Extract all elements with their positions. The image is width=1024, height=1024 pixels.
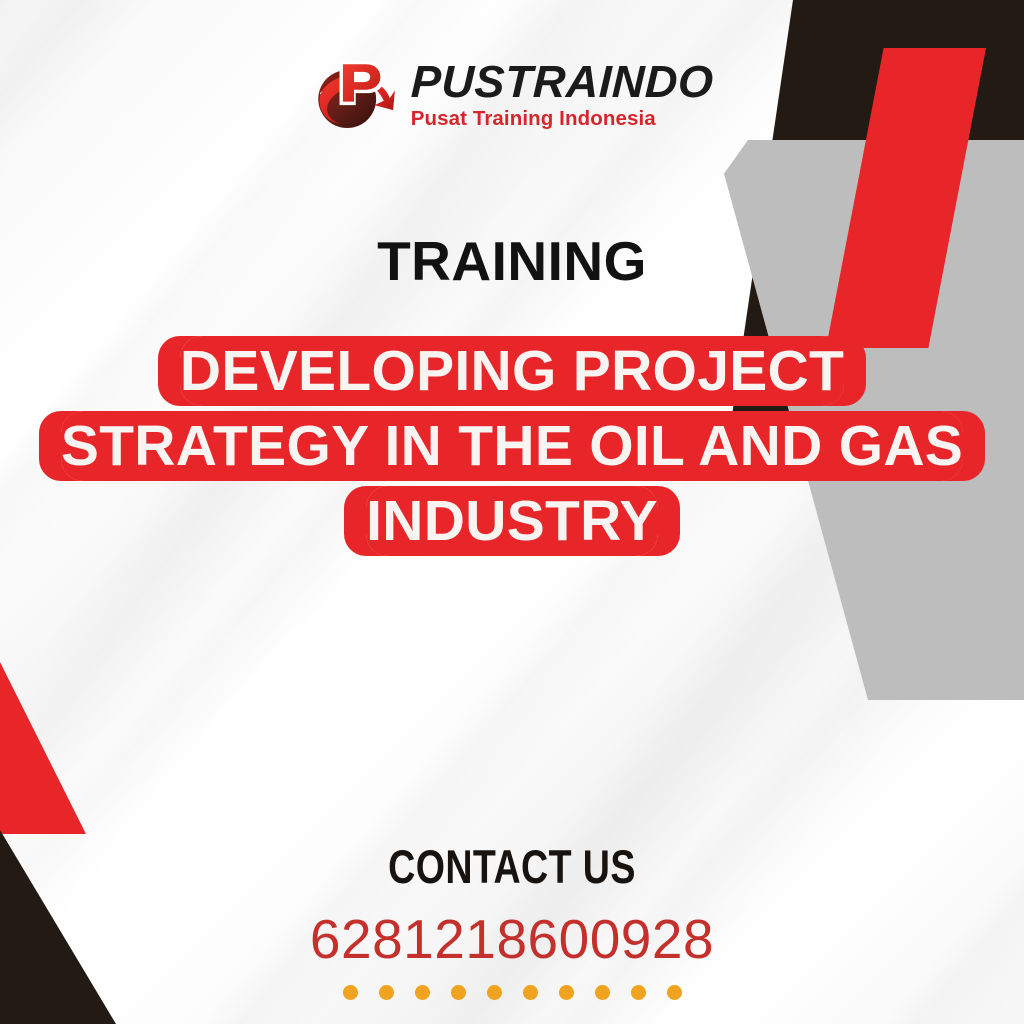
decorative-dot bbox=[379, 985, 394, 1000]
decorative-dot bbox=[343, 985, 358, 1000]
eyebrow-training: TRAINING bbox=[377, 229, 647, 293]
headline-line-3: INDUSTRY bbox=[366, 486, 658, 556]
contact-us-label: CONTACT US bbox=[102, 839, 921, 894]
brand-wordmark: PUSTRAINDO Pusat Training Indonesia bbox=[411, 59, 714, 130]
headline-line-1: DEVELOPING PROJECT bbox=[180, 336, 844, 406]
decorative-dot bbox=[595, 985, 610, 1000]
headline-block: DEVELOPING PROJECT STRATEGY IN THE OIL A… bbox=[52, 337, 972, 556]
brand-logo: PUSTRAINDO Pusat Training Indonesia bbox=[311, 52, 714, 136]
decorative-dot bbox=[487, 985, 502, 1000]
decorative-dot bbox=[667, 985, 682, 1000]
decorative-dot bbox=[451, 985, 466, 1000]
pustraindo-globe-arrow-icon bbox=[311, 54, 397, 134]
contact-phone-number[interactable]: 6281218600928 bbox=[0, 907, 1024, 971]
brand-tagline: Pusat Training Indonesia bbox=[411, 109, 714, 130]
decorative-dot bbox=[523, 985, 538, 1000]
brand-name: PUSTRAINDO bbox=[410, 59, 714, 104]
contact-section: CONTACT US 6281218600928 bbox=[0, 839, 1024, 1000]
decorative-dot-row bbox=[0, 985, 1024, 1000]
headline-line-2-wrap: STRATEGY IN THE OIL AND GAS bbox=[52, 406, 972, 487]
headline-line-1-wrap: DEVELOPING PROJECT bbox=[52, 331, 972, 412]
decorative-dot bbox=[559, 985, 574, 1000]
headline-line-2: STRATEGY IN THE OIL AND GAS bbox=[61, 411, 963, 481]
decorative-dot bbox=[631, 985, 646, 1000]
decorative-dot bbox=[415, 985, 430, 1000]
poster-canvas: PUSTRAINDO Pusat Training Indonesia TRAI… bbox=[0, 0, 1024, 1024]
headline-line-3-wrap: INDUSTRY bbox=[52, 481, 972, 562]
